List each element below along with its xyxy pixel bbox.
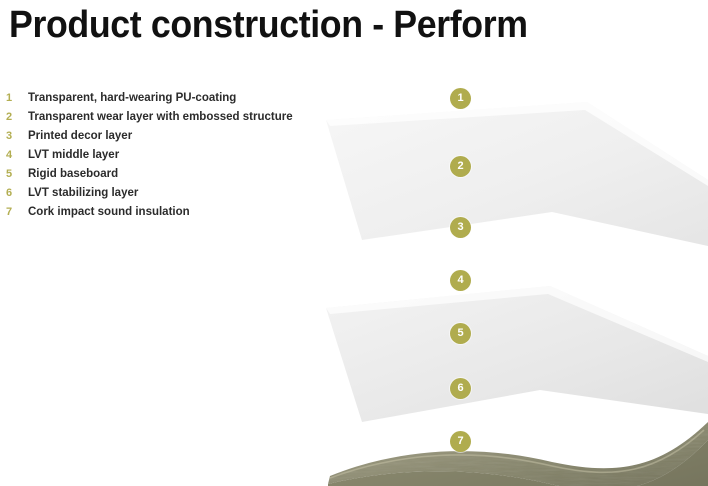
layer-badge-7[interactable]: 7	[450, 431, 471, 452]
list-item: 1 Transparent, hard-wearing PU-coating	[0, 89, 330, 108]
list-item: 2 Transparent wear layer with embossed s…	[0, 108, 330, 127]
legend-number: 2	[6, 108, 20, 127]
product-construction-slide: Product construction - Perform 1 Transpa…	[0, 0, 708, 486]
layer-badge-6[interactable]: 6	[450, 378, 471, 399]
layer-badge-1[interactable]: 1	[450, 88, 471, 109]
legend-label: Rigid baseboard	[28, 165, 118, 184]
legend-number: 3	[6, 127, 20, 146]
layer-badge-2[interactable]: 2	[450, 156, 471, 177]
legend-label: Transparent, hard-wearing PU-coating	[28, 89, 236, 108]
exploded-layer-diagram	[300, 70, 708, 486]
legend-number: 6	[6, 184, 20, 203]
legend-label: LVT middle layer	[28, 146, 119, 165]
list-item: 3 Printed decor layer	[0, 127, 330, 146]
legend-number: 4	[6, 146, 20, 165]
layer-legend-list: 1 Transparent, hard-wearing PU-coating 2…	[0, 89, 330, 222]
layer-3-decor-layer	[328, 422, 708, 486]
layer-1-pu-coating	[326, 102, 708, 246]
legend-label: Cork impact sound insulation	[28, 203, 190, 222]
list-item: 5 Rigid baseboard	[0, 165, 330, 184]
list-item: 6 LVT stabilizing layer	[0, 184, 330, 203]
list-item: 7 Cork impact sound insulation	[0, 203, 330, 222]
layer-badge-5[interactable]: 5	[450, 323, 471, 344]
layer-2-wear-layer	[326, 286, 708, 422]
legend-number: 5	[6, 165, 20, 184]
list-item: 4 LVT middle layer	[0, 146, 330, 165]
legend-number: 7	[6, 203, 20, 222]
legend-number: 1	[6, 89, 20, 108]
layer-badge-3[interactable]: 3	[450, 217, 471, 238]
page-title: Product construction - Perform	[9, 4, 528, 47]
legend-label: LVT stabilizing layer	[28, 184, 138, 203]
legend-label: Printed decor layer	[28, 127, 132, 146]
layer-badge-4[interactable]: 4	[450, 270, 471, 291]
legend-label: Transparent wear layer with embossed str…	[28, 108, 293, 127]
